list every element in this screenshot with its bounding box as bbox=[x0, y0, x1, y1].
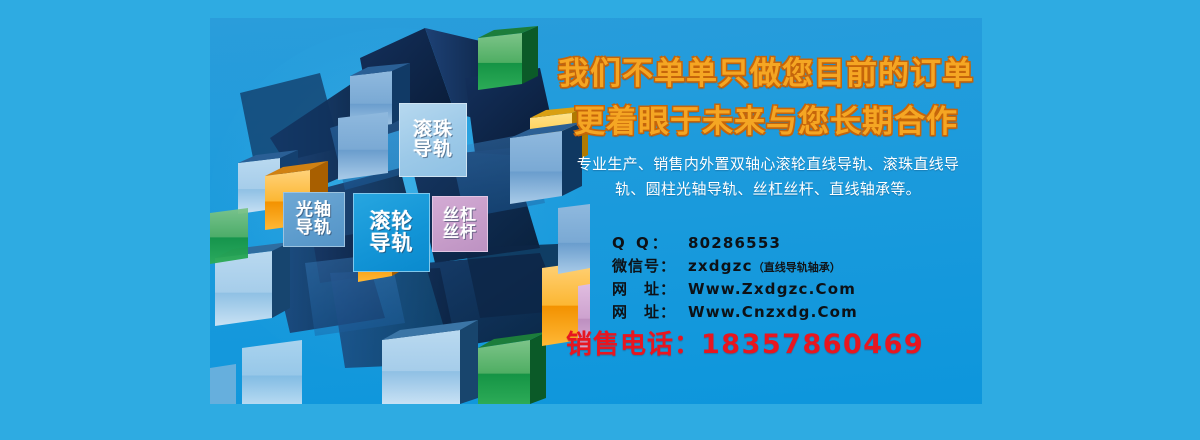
contact-value[interactable]: Www.Cnzxdg.Com bbox=[688, 303, 858, 321]
company-description: 专业生产、销售内外置双轴心滚轮直线导轨、滚珠直线导轨、圆柱光轴导轨、丝杠丝杆、直… bbox=[568, 152, 968, 202]
headline-line-2: 更着眼于未来与您长期合作 bbox=[550, 96, 982, 141]
cube-label-ball-rail: 滚珠 导轨 bbox=[399, 103, 467, 177]
contact-row-website-2: 网 址： Www.Cnzxdg.Com bbox=[612, 301, 972, 324]
contact-label: 网 址： bbox=[612, 278, 688, 299]
cube-label-text: 光轴 导轨 bbox=[296, 202, 332, 237]
headline-line-1: 我们不单单只做您目前的订单 bbox=[550, 48, 982, 93]
cube-pale-blue-bottom-center bbox=[382, 320, 478, 404]
contact-note: （直线导轨轴承） bbox=[753, 259, 841, 275]
contact-row-qq: Q Q： 80286553 bbox=[612, 232, 972, 255]
cube-label-screw-rod: 丝杠 丝杆 bbox=[432, 196, 488, 252]
banner-content: 我们不单单只做您目前的订单 更着眼于未来与您长期合作 专业生产、销售内外置双轴心… bbox=[550, 18, 982, 404]
contact-value: zxdgzc bbox=[688, 257, 753, 275]
sales-phone-number: 18357860469 bbox=[701, 329, 924, 360]
sales-phone-label: 销售电话： bbox=[566, 330, 701, 360]
cube-label-text: 滚轮 导轨 bbox=[370, 211, 414, 255]
banner-panel: 滚珠 导轨 光轴 导轨 滚轮 导轨 丝杠 丝杆 我们不单单只做您目前的订单 更着… bbox=[210, 18, 982, 404]
cube-green-bottom-center bbox=[478, 332, 546, 404]
contact-label: 微信号： bbox=[612, 255, 688, 276]
sales-phone: 销售电话：18357860469 bbox=[566, 324, 982, 361]
cube-label-text: 丝杠 丝杆 bbox=[443, 207, 477, 240]
cube-green-top bbox=[478, 26, 538, 90]
cube-label-text: 滚珠 导轨 bbox=[413, 120, 453, 160]
promo-banner: 滚珠 导轨 光轴 导轨 滚轮 导轨 丝杠 丝杆 我们不单单只做您目前的订单 更着… bbox=[0, 0, 1200, 440]
cube-blue-bottom-far-left bbox=[210, 364, 236, 404]
cube-label-roller-rail: 滚轮 导轨 bbox=[353, 193, 430, 272]
cube-green-bottom-left bbox=[210, 208, 248, 264]
contact-value[interactable]: Www.Zxdgzc.Com bbox=[688, 280, 856, 298]
contact-label: 网 址： bbox=[612, 301, 688, 322]
contact-row-wechat: 微信号： zxdgzc （直线导轨轴承） bbox=[612, 255, 972, 278]
contact-row-website-1: 网 址： Www.Zxdgzc.Com bbox=[612, 278, 972, 301]
cube-blue-mid-left bbox=[338, 112, 388, 180]
cube-label-shaft-rail: 光轴 导轨 bbox=[283, 192, 345, 247]
contact-block: Q Q： 80286553 微信号： zxdgzc （直线导轨轴承） 网 址： … bbox=[612, 232, 972, 324]
contact-label: Q Q： bbox=[612, 232, 688, 253]
contact-value: 80286553 bbox=[688, 234, 781, 252]
cube-blue-bottom-left bbox=[242, 340, 302, 404]
cube-burst-graphic: 滚珠 导轨 光轴 导轨 滚轮 导轨 丝杠 丝杆 bbox=[210, 18, 590, 404]
